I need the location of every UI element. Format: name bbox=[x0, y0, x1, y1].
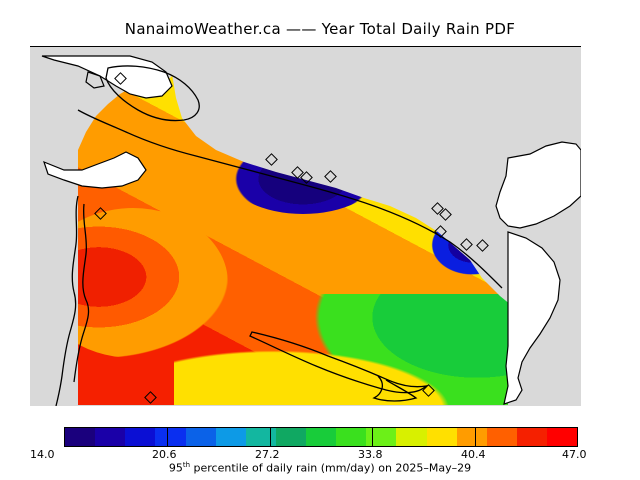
colorbar-segment-8 bbox=[306, 428, 336, 446]
sea-right-lower-landmass bbox=[504, 232, 560, 404]
map-panel[interactable] bbox=[30, 46, 581, 406]
coastline-vancouver-island-west bbox=[56, 196, 78, 406]
colorbar-segment-5 bbox=[216, 428, 246, 446]
colorbar-tick-3 bbox=[372, 427, 373, 447]
colorbar-caption-superscript: th bbox=[183, 461, 190, 469]
colorbar-segment-2 bbox=[125, 428, 155, 446]
colorbar-segment-11 bbox=[396, 428, 426, 446]
colorbar[interactable] bbox=[64, 427, 578, 447]
colorbar-segment-1 bbox=[95, 428, 125, 446]
colorbar-segment-9 bbox=[336, 428, 366, 446]
colorbar-tick-1 bbox=[167, 427, 168, 447]
colorbar-segment-10 bbox=[366, 428, 396, 446]
colorbar-tick-2 bbox=[270, 427, 271, 447]
colorbar-label-4: 40.4 bbox=[461, 448, 486, 461]
sea-right-landmass bbox=[496, 142, 581, 228]
colorbar-segment-15 bbox=[517, 428, 547, 446]
colorbar-label-1: 20.6 bbox=[152, 448, 177, 461]
colorbar-segment-0 bbox=[65, 428, 95, 446]
colorbar-caption-prefix: 95 bbox=[169, 462, 183, 475]
land-mask-right-island bbox=[508, 174, 581, 246]
contour-upper-mid-tongue bbox=[174, 332, 504, 405]
colorbar-label-3: 33.8 bbox=[358, 448, 383, 461]
colorbar-segment-14 bbox=[487, 428, 517, 446]
colorbar-label-max: 47.0 bbox=[562, 448, 587, 461]
colorbar-segment-3 bbox=[155, 428, 185, 446]
colorbar-gradient[interactable] bbox=[64, 427, 578, 447]
colorbar-segment-4 bbox=[186, 428, 216, 446]
colorbar-label-2: 27.2 bbox=[255, 448, 280, 461]
colorbar-label-min: 14.0 bbox=[30, 448, 55, 461]
colorbar-segment-6 bbox=[246, 428, 276, 446]
colorbar-segment-7 bbox=[276, 428, 306, 446]
colorbar-segment-13 bbox=[457, 428, 487, 446]
weather-map-screenshot: NanaimoWeather.ca —— Year Total Daily Ra… bbox=[0, 0, 640, 480]
colorbar-caption-rest: percentile of daily rain (mm/day) on 202… bbox=[190, 462, 471, 475]
colorbar-tick-4 bbox=[475, 427, 476, 447]
colorbar-caption: 95th percentile of daily rain (mm/day) o… bbox=[0, 461, 640, 475]
page-title: NanaimoWeather.ca —— Year Total Daily Ra… bbox=[0, 20, 640, 38]
colorbar-segment-12 bbox=[427, 428, 457, 446]
colorbar-segment-16 bbox=[547, 428, 577, 446]
